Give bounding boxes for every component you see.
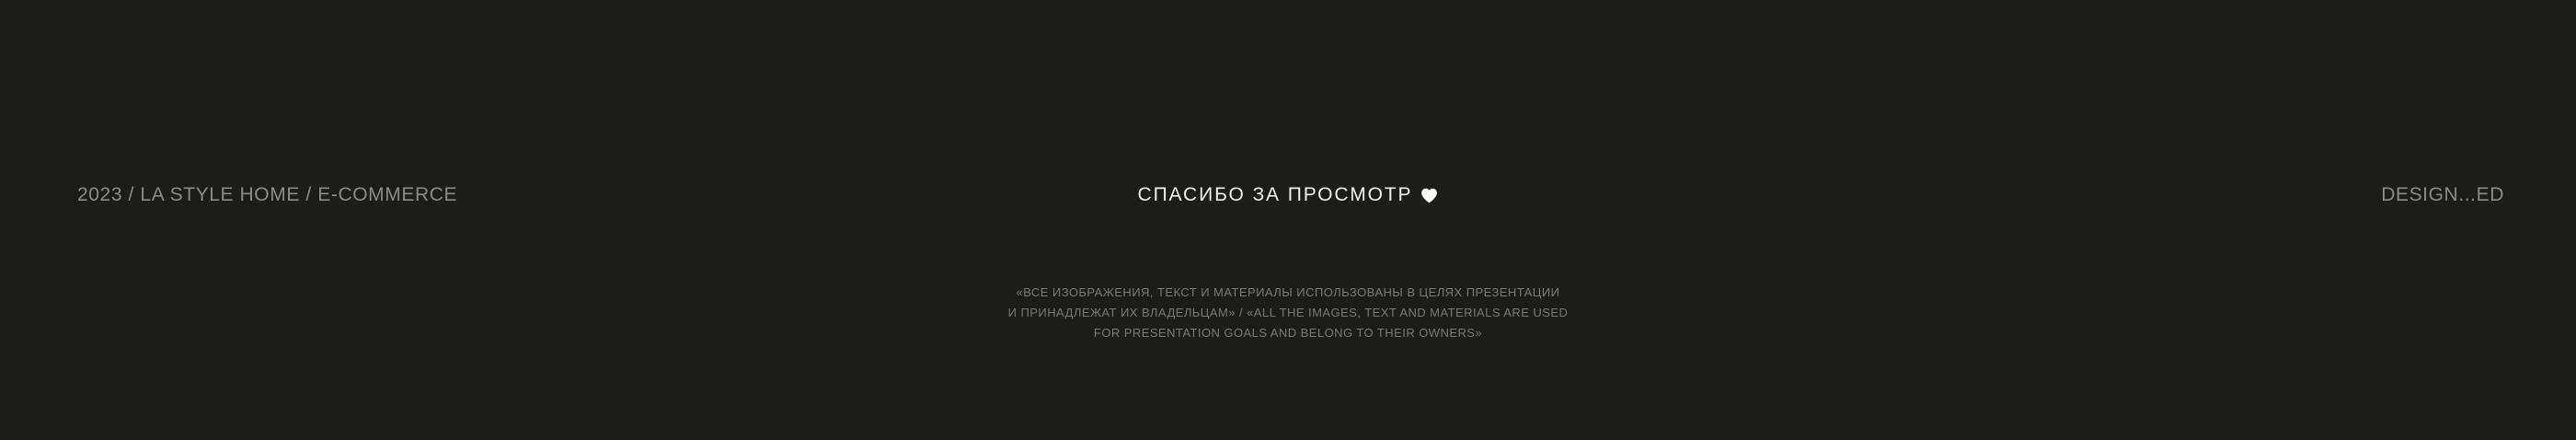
thank-you-text: СПАСИБО ЗА ПРОСМОТР (1138, 184, 1413, 206)
project-credit-left: 2023 / LA STYLE HOME / E-COMMERCE (77, 184, 457, 206)
heart-icon (1420, 188, 1438, 203)
thank-you-slide: 2023 / LA STYLE HOME / E-COMMERCE DESIGN… (0, 0, 2576, 440)
thank-you-headline: СПАСИБО ЗА ПРОСМОТР (0, 180, 2576, 210)
disclaimer-line-1: «ВСЕ ИЗОБРАЖЕНИЯ, ТЕКСТ И МАТЕРИАЛЫ ИСПО… (0, 283, 2576, 303)
credit-row: 2023 / LA STYLE HOME / E-COMMERCE DESIGN… (0, 180, 2576, 210)
usage-disclaimer: «ВСЕ ИЗОБРАЖЕНИЯ, ТЕКСТ И МАТЕРИАЛЫ ИСПО… (0, 283, 2576, 343)
designer-credit-right: DESIGN...ED (2381, 184, 2504, 206)
disclaimer-line-2: И ПРИНАДЛЕЖАТ ИХ ВЛАДЕЛЬЦАМ» / «ALL THE … (0, 303, 2576, 323)
disclaimer-line-3: FOR PRESENTATION GOALS AND BELONG TO THE… (0, 323, 2576, 343)
